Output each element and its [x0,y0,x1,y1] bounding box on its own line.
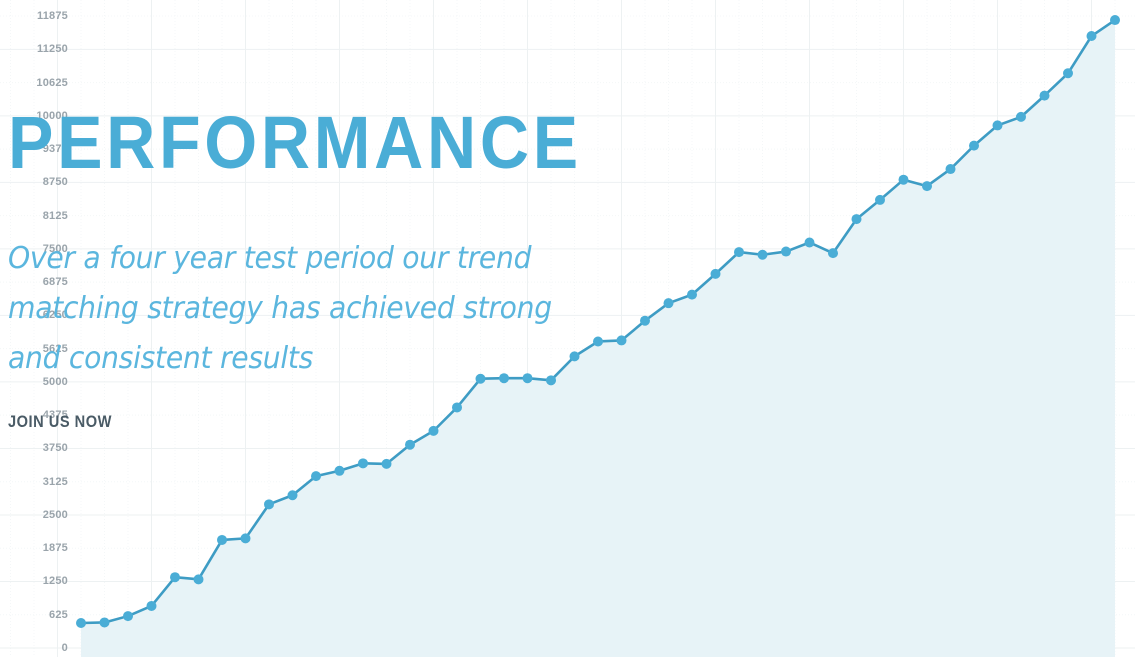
chart-marker [711,269,721,279]
chart-marker [593,336,603,346]
chart-marker [687,290,697,300]
chart-marker [734,247,744,257]
chart-marker [217,535,227,545]
y-axis-tick-3125: 3125 [43,476,68,488]
chart-marker [875,195,885,205]
hero-subtitle-line-1: Over a four year test period our trend [8,234,572,284]
chart-marker [969,141,979,151]
chart-marker [311,471,321,481]
y-axis-tick-8125: 8125 [43,210,68,222]
chart-marker [358,458,368,468]
chart-marker [335,466,345,476]
hero-subtitle-line-2: matching strategy has achieved strong [8,284,572,334]
y-axis-tick-1875: 1875 [43,542,68,554]
y-axis-tick-1250: 1250 [43,575,68,587]
chart-marker [640,316,650,326]
page-title: PERFORMANCE [8,108,578,178]
chart-marker [899,175,909,185]
chart-marker [264,499,274,509]
y-axis-tick-625: 625 [49,609,68,621]
chart-marker [194,574,204,584]
y-axis-tick-10625: 10625 [36,77,68,89]
chart-marker [852,214,862,224]
chart-marker [147,601,157,611]
chart-marker [922,181,932,191]
chart-marker [1110,15,1120,25]
chart-marker [781,247,791,257]
chart-marker [946,164,956,174]
chart-marker [100,617,110,627]
y-axis-tick-3750: 3750 [43,442,68,454]
y-axis-tick-2500: 2500 [43,509,68,521]
chart-marker [170,572,180,582]
chart-marker [617,335,627,345]
chart-marker [1016,112,1026,122]
chart-marker [382,459,392,469]
join-us-now-link[interactable]: JOIN US NOW [8,412,112,432]
chart-marker [1063,68,1073,78]
chart-marker [1040,91,1050,101]
performance-hero: 0625125018752500312537504375500056256250… [0,0,1135,657]
chart-marker [429,426,439,436]
chart-marker [828,248,838,258]
chart-marker [405,440,415,450]
y-axis-tick-11875: 11875 [37,10,68,22]
chart-marker [1087,31,1097,41]
hero-copy: PERFORMANCE [8,108,628,178]
chart-marker [288,490,298,500]
chart-marker [805,237,815,247]
hero-subtitle: Over a four year test period our trendma… [8,234,572,384]
hero-subtitle-line-3: and consistent results [8,334,572,384]
y-axis-tick-11250: 11250 [37,43,68,55]
chart-marker [758,250,768,260]
chart-marker [993,120,1003,130]
chart-marker [452,402,462,412]
chart-marker [664,298,674,308]
chart-marker [123,611,133,621]
y-axis-tick-0: 0 [62,642,68,654]
chart-marker [241,533,251,543]
